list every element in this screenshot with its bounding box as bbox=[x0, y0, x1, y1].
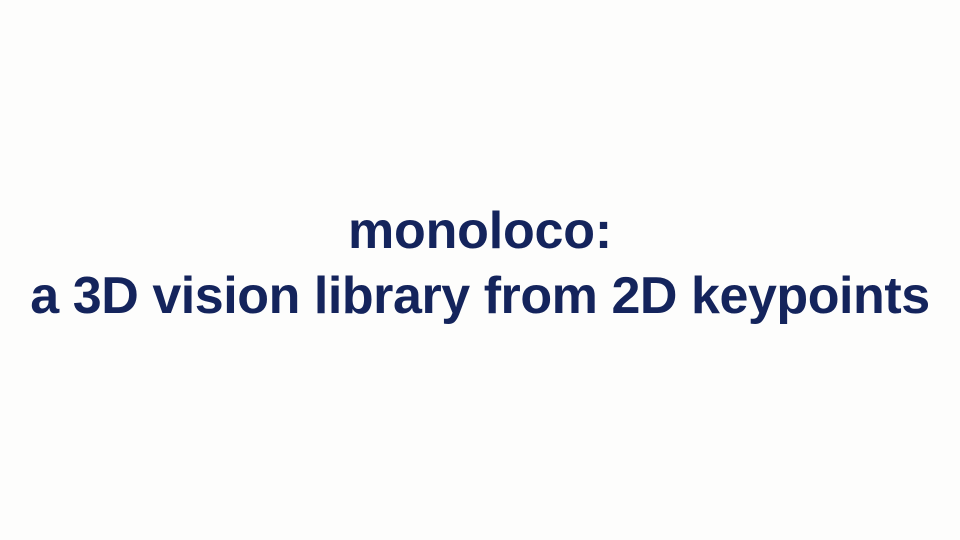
title-block: monoloco: a 3D vision library from 2D ke… bbox=[0, 0, 960, 534]
title-slide: monoloco: a 3D vision library from 2D ke… bbox=[0, 0, 960, 540]
title-line-secondary: a 3D vision library from 2D keypoints bbox=[0, 264, 960, 329]
title-line-primary: monoloco: bbox=[0, 199, 960, 264]
